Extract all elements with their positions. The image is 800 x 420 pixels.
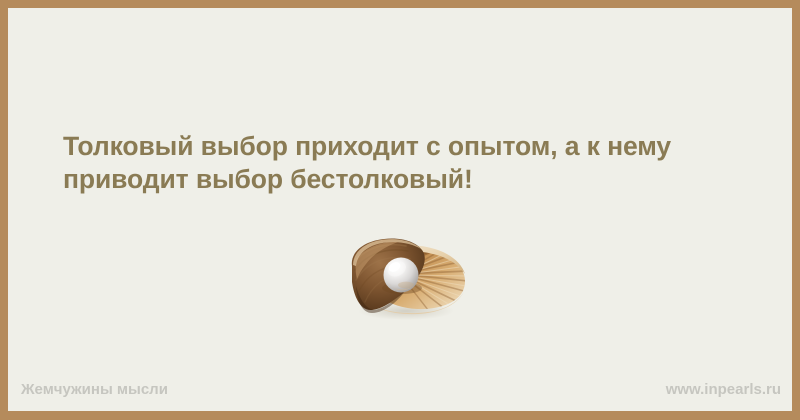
- card-inner-page: Толковый выбор приходит с опытом, а к не…: [8, 8, 792, 411]
- pearl-in-seashell-icon: [340, 230, 476, 322]
- footer: Жемчужины мысли www.inpearls.ru: [8, 379, 792, 401]
- brand-label: Жемчужины мысли: [21, 379, 168, 401]
- quote-text: Толковый выбор приходит с опытом, а к не…: [63, 130, 763, 196]
- quote-card: Толковый выбор приходит с опытом, а к не…: [0, 0, 800, 420]
- site-url-label[interactable]: www.inpearls.ru: [666, 379, 781, 401]
